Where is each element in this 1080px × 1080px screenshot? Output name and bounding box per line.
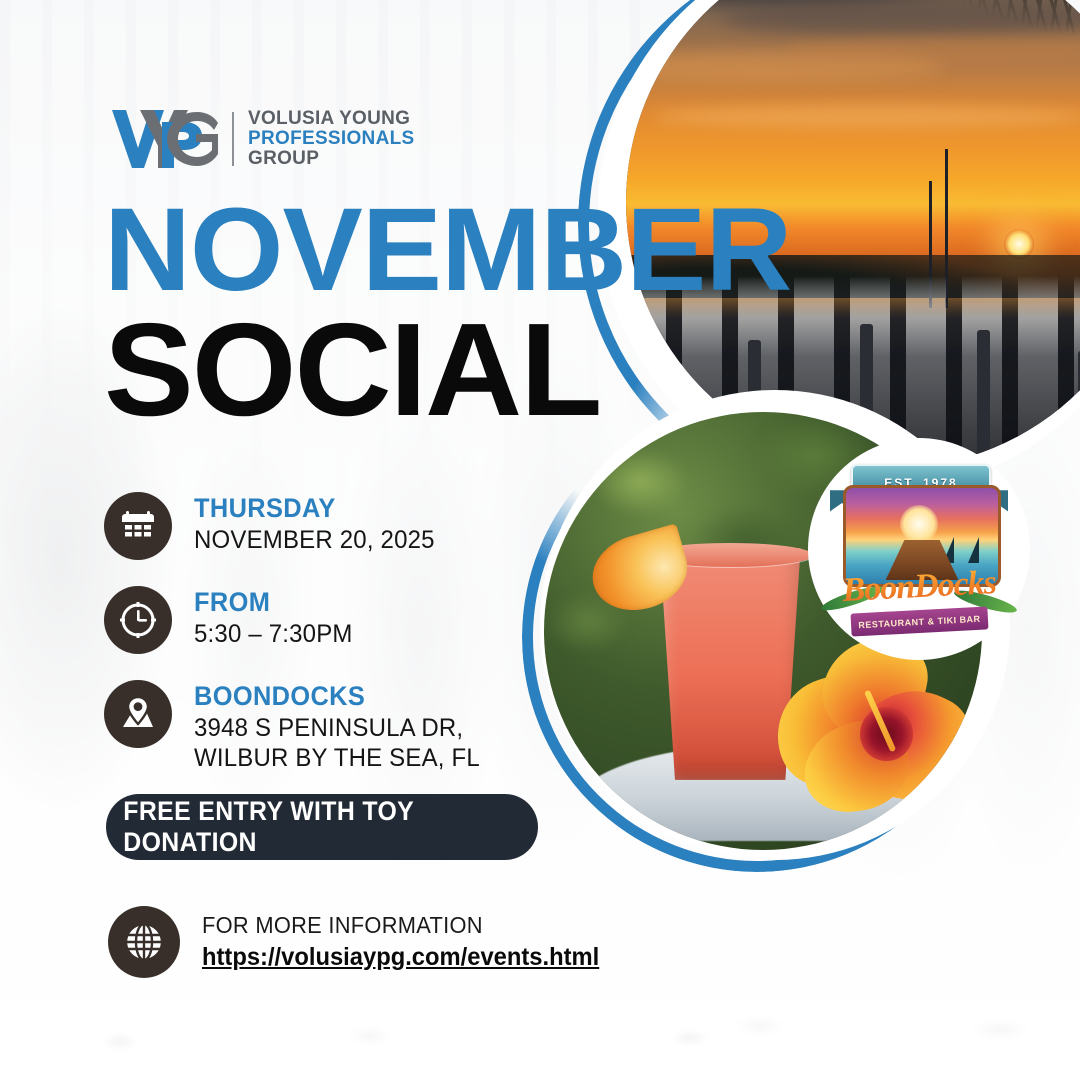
calendar-icon xyxy=(104,492,172,560)
map-pin-icon xyxy=(104,680,172,748)
more-information: FOR MORE INFORMATION https://volusiaypg.… xyxy=(108,906,620,978)
detail-row-location: BOONDOCKS 3948 S PENINSULA DR, WILBUR BY… xyxy=(104,680,492,773)
headline-month: NOVEMBER xyxy=(104,196,791,305)
detail-sub-location-line2: WILBUR BY THE SEA, FL xyxy=(194,743,480,773)
detail-sub-time: 5:30 – 7:30PM xyxy=(194,619,353,649)
detail-title-location: BOONDOCKS xyxy=(194,682,474,710)
headline-word: SOCIAL xyxy=(104,309,791,430)
free-entry-button[interactable]: FREE ENTRY WITH TOY DONATION xyxy=(106,794,538,860)
boondocks-tagline: RESTAURANT & TIKI BAR xyxy=(858,613,981,629)
event-details: THURSDAY NOVEMBER 20, 2025 FROM 5:30 – 7… xyxy=(104,492,492,773)
more-info-label: FOR MORE INFORMATION xyxy=(202,911,599,940)
detail-title-time: FROM xyxy=(194,588,349,616)
boondocks-logo-badge: EST. 1978 BoonDocks RESTAURANT & TIKI BA… xyxy=(808,438,1030,660)
detail-sub-location-line1: 3948 S PENINSULA DR, xyxy=(194,713,480,743)
detail-row-date: THURSDAY NOVEMBER 20, 2025 xyxy=(104,492,492,560)
sun xyxy=(1004,229,1034,259)
palm-fronds xyxy=(871,0,1080,85)
detail-title-date: THURSDAY xyxy=(194,494,430,522)
detail-sub-date: NOVEMBER 20, 2025 xyxy=(194,525,435,555)
event-flyer: EST. 1978 BoonDocks RESTAURANT & TIKI BA… xyxy=(0,0,1080,1080)
vypg-logo: VOLUSIA YOUNG PROFESSIONALS GROUP xyxy=(110,108,414,170)
events-url-link[interactable]: https://volusiaypg.com/events.html xyxy=(202,942,599,973)
brand-line-2: PROFESSIONALS xyxy=(248,129,414,149)
page-title: NOVEMBER SOCIAL xyxy=(104,196,778,430)
brand-line-1: VOLUSIA YOUNG xyxy=(248,109,414,129)
logo-divider xyxy=(232,112,234,166)
free-entry-label: FREE ENTRY WITH TOY DONATION xyxy=(123,796,520,858)
brand-line-3: GROUP xyxy=(248,149,414,169)
globe-icon xyxy=(108,906,180,978)
detail-row-time: FROM 5:30 – 7:30PM xyxy=(104,586,492,654)
clock-icon xyxy=(104,586,172,654)
vypg-logo-mark xyxy=(110,108,218,170)
